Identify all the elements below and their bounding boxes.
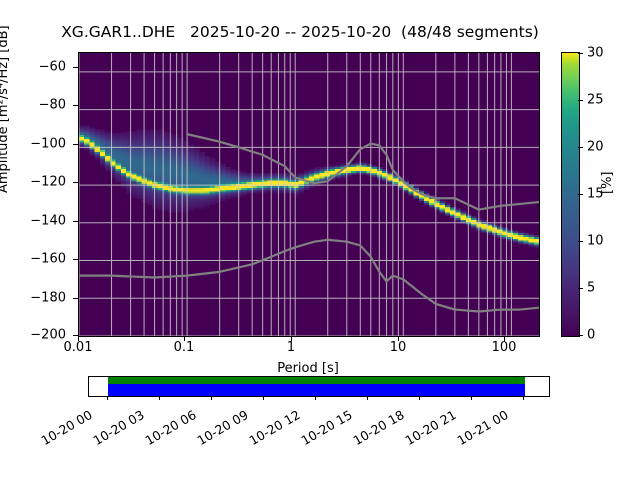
x-tick-label: 1 (287, 340, 295, 355)
colorbar-tick-label: 5 (587, 281, 595, 296)
x-tick-label: 100 (492, 340, 517, 355)
x-tick-label: 0.1 (174, 340, 195, 355)
timeline-tick-label: 10-20 09 (195, 407, 251, 448)
colorbar-tick-label: 0 (587, 328, 595, 343)
psd-segments-bar (108, 384, 525, 396)
timeline-tick-label: 10-20 15 (299, 407, 355, 448)
timeline-tick-label: 10-20 12 (247, 407, 303, 448)
timeline-tick-label: 10-20 18 (351, 407, 407, 448)
timeline-tick-label: 10-20 06 (143, 407, 199, 448)
y-tick-label: −140 (30, 214, 66, 229)
timeline-tick-marks (0, 0, 640, 110)
figure-canvas: XG.GAR1..DHE 2025-10-20 -- 2025-10-20 (4… (0, 0, 640, 480)
colorbar-tick-label: 10 (587, 234, 604, 249)
y-tick-label: −120 (30, 175, 66, 190)
x-tick-label: 0.01 (64, 340, 93, 355)
timeline-tick-label: 10-20 00 (39, 407, 95, 448)
data-coverage-bar (108, 377, 525, 384)
x-tick-label: 10 (390, 340, 407, 355)
colorbar-tick-label: 20 (587, 140, 604, 155)
y-tick-label: −100 (30, 137, 66, 152)
y-tick-label: −200 (30, 328, 66, 343)
y-tick-label: −160 (30, 252, 66, 267)
colorbar-unit-label: [%] (600, 172, 615, 195)
timeline-tick-label: 10-21 00 (455, 407, 511, 448)
y-tick-label: −180 (30, 291, 66, 306)
timeline-axis[interactable] (88, 376, 550, 397)
timeline-tick-label: 10-20 03 (91, 407, 147, 448)
x-axis-label: Period [s] (78, 361, 538, 376)
timeline-tick-label: 10-20 21 (403, 407, 459, 448)
